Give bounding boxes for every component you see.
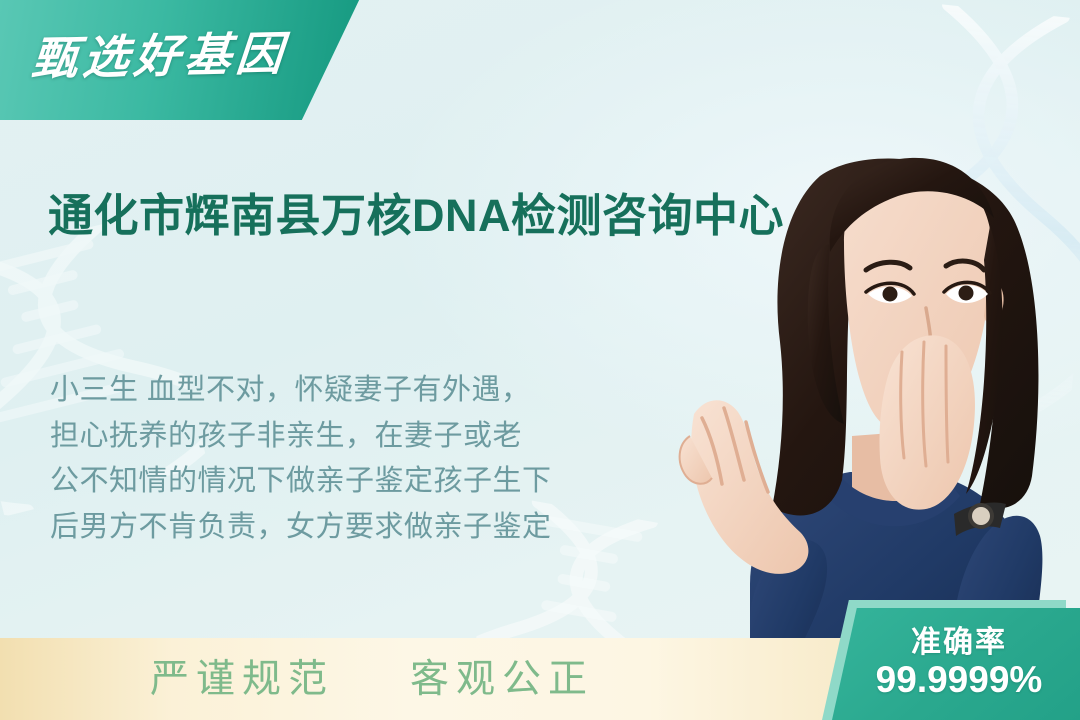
brand-banner: 甄选好基因 [0,0,362,120]
slogan-group: 严谨规范 客观公正 [150,660,594,699]
badge-value: 99.9999% [842,661,1076,700]
description-line: 公不知情的情况下做亲子鉴定孩子生下 [50,459,690,505]
slogan-item: 客观公正 [410,660,594,699]
badge-label: 准确率 [842,626,1076,659]
description-text: 小三生 血型不对，怀疑妻子有外遇， 担心抚养的孩子非亲生，在妻子或老 公不知情的… [50,368,690,550]
page-title: 通化市辉南县万核DNA检测咨询中心 [48,186,838,245]
description-line: 担心抚养的孩子非亲生，在妻子或老 [50,414,690,460]
description-line: 后男方不肯负责，女方要求做亲子鉴定 [50,505,690,551]
accuracy-badge: 准确率 99.9999% [818,596,1080,720]
brand-logo-text: 甄选好基因 [30,31,289,82]
badge-content: 准确率 99.9999% [842,610,1076,716]
description-line: 小三生 血型不对，怀疑妻子有外遇， [50,368,690,414]
slogan-item: 严谨规范 [150,660,334,699]
promo-poster: 甄选好基因 通化市辉南县万核DNA检测咨询中心 小三生 血型不对，怀疑妻子有外遇… [0,0,1080,720]
